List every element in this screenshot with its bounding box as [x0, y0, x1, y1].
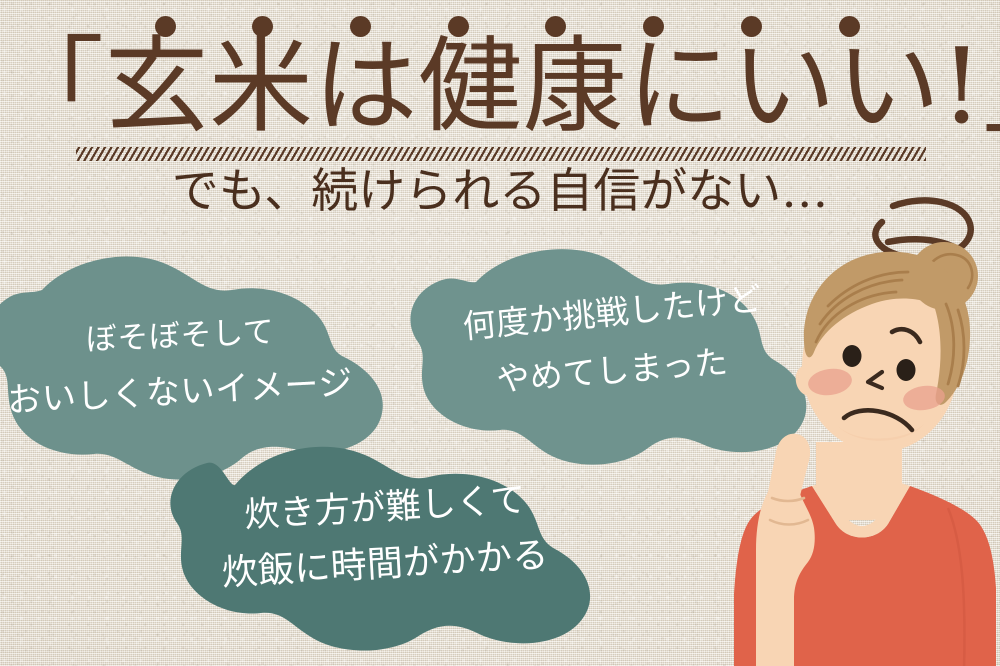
speech-bubble-cooking: 炊き方が難しくて 炊飯に時間がかかる [165, 443, 620, 658]
pointing-finger [772, 434, 810, 496]
eye-right [897, 359, 916, 381]
poster-canvas: 「玄米は健康にいい!」 でも、続けられる自信がない… ぼそぼそして おいしくない… [0, 0, 1000, 666]
headline-block: 「玄米は健康にいい!」 [0, 0, 1000, 150]
page-title: 「玄米は健康にいい!」 [0, 34, 1000, 138]
worried-woman-illustration [720, 190, 1000, 666]
eye-left [843, 345, 862, 367]
hatched-divider [76, 147, 926, 161]
